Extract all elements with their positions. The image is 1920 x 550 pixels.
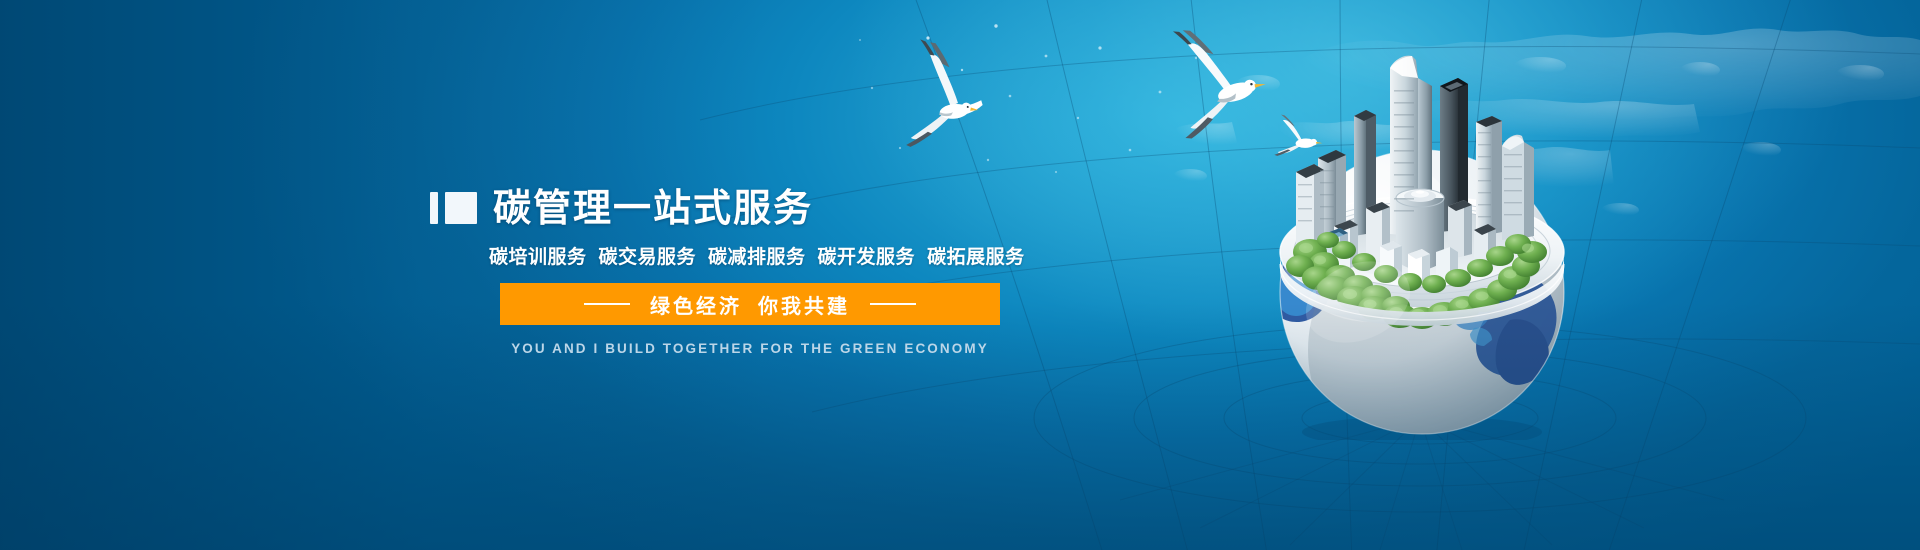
page-title: 碳管理一站式服务	[493, 188, 813, 228]
hero-banner: 碳管理一站式服务 碳培训服务碳交易服务碳减排服务碳开发服务碳拓展服务 绿色经济你…	[0, 0, 1920, 550]
service-item-3[interactable]: 碳开发服务	[818, 246, 916, 268]
slogan-banner: 绿色经济你我共建	[500, 283, 1000, 325]
title-mark-icon	[430, 192, 477, 224]
slogan-text: 绿色经济你我共建	[650, 290, 850, 319]
service-item-0[interactable]: 碳培训服务	[489, 246, 587, 268]
slogan-rule-left-icon	[584, 303, 630, 305]
slogan-text-b: 你我共建	[758, 294, 850, 318]
service-list: 碳培训服务碳交易服务碳减排服务碳开发服务碳拓展服务	[489, 242, 1050, 269]
service-item-4[interactable]: 碳拓展服务	[927, 246, 1025, 268]
title-row: 碳管理一站式服务	[430, 186, 1050, 230]
slogan-rule-right-icon	[870, 303, 916, 305]
service-item-2[interactable]: 碳减排服务	[708, 246, 806, 268]
slogan-text-a: 绿色经济	[650, 294, 742, 318]
english-tagline: YOU AND I BUILD TOGETHER FOR THE GREEN E…	[500, 341, 1000, 356]
mark-bar-icon	[430, 192, 438, 224]
mark-square-icon	[445, 192, 477, 224]
service-item-1[interactable]: 碳交易服务	[599, 246, 697, 268]
banner-content: 碳管理一站式服务 碳培训服务碳交易服务碳减排服务碳开发服务碳拓展服务 绿色经济你…	[430, 186, 1050, 356]
